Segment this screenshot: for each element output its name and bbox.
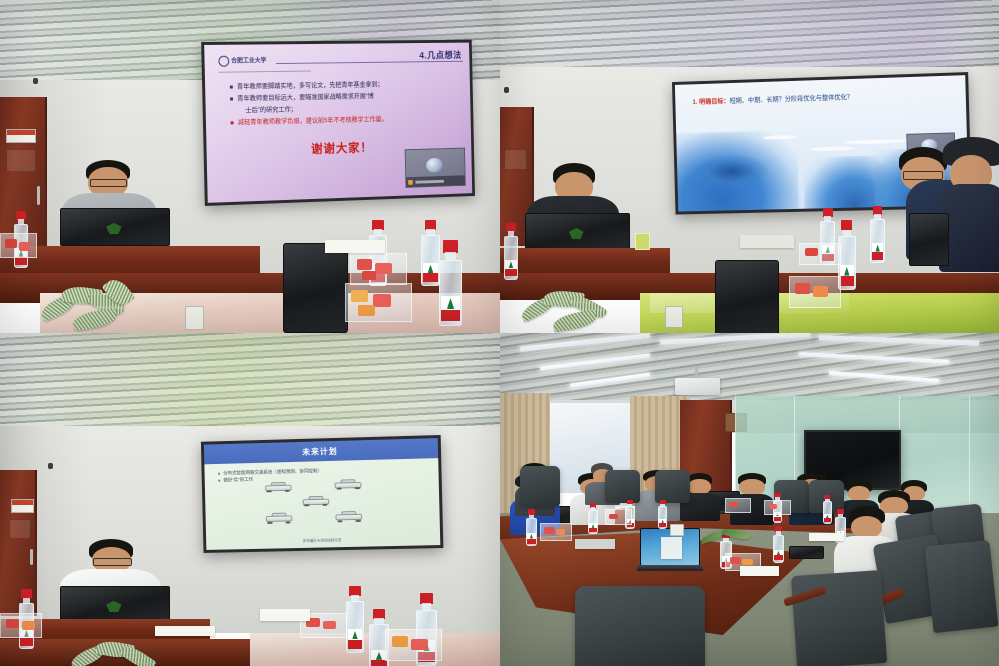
tea-cup xyxy=(635,233,650,250)
potted-plant xyxy=(700,526,760,553)
laptop-lid xyxy=(283,243,348,333)
projector-mount xyxy=(695,366,698,378)
equipment-box xyxy=(740,235,795,248)
projection-screen: 未来计划 分布式智能网联交通系统（感知预测、协同控制） 做好“实”的工作 xyxy=(200,435,442,552)
office-chair[interactable] xyxy=(655,470,690,503)
water-bottle[interactable] xyxy=(587,503,598,535)
photo-collage: 4.几点想法 合肥工业大学 青年教师要脚踏实地，多写论文，先把青年基金拿到； 青… xyxy=(0,0,999,666)
tablet[interactable] xyxy=(789,546,824,559)
bottle-label xyxy=(441,296,459,322)
bottle-label xyxy=(348,629,362,649)
potted-plant xyxy=(40,276,150,333)
pine-tree-icon xyxy=(693,153,768,183)
office-chair[interactable] xyxy=(520,466,560,506)
bottle-label xyxy=(774,550,782,560)
fruit-tray xyxy=(725,498,752,513)
vehicle-icon xyxy=(334,480,361,490)
panel-top-left: 4.几点想法 合肥工业大学 青年教师要脚踏实地，多写论文，先把青年基金拿到； 青… xyxy=(0,0,500,333)
paper-stack xyxy=(809,533,844,541)
ceiling-camera-icon xyxy=(33,78,38,84)
water-bottle[interactable] xyxy=(822,495,833,525)
door-sign xyxy=(6,129,36,144)
plant-leaf xyxy=(552,309,598,332)
water-bottle[interactable] xyxy=(502,223,519,280)
door-handle-icon[interactable] xyxy=(30,549,32,565)
bottle-body xyxy=(526,518,537,546)
bottle-body xyxy=(439,260,462,327)
vehicle-icon xyxy=(335,512,362,522)
paper-stack xyxy=(325,240,385,253)
mountain-logo-icon xyxy=(447,298,454,309)
laptop-lid xyxy=(715,260,780,333)
laptop-base xyxy=(637,565,703,571)
mountain-logo-icon xyxy=(875,245,880,252)
attendee-laptop-foreground[interactable] xyxy=(715,260,780,333)
potted-plant xyxy=(520,283,630,333)
bottle-label xyxy=(659,519,666,527)
bullet-text: 士后”的研究工作； xyxy=(237,105,297,116)
slide-line: 1. 明确目标：短期、中期、长期？分阶段优化与整体优化？ xyxy=(692,88,954,105)
ceiling-camera-icon xyxy=(504,87,509,93)
paper-stack xyxy=(260,609,310,621)
bottle-label xyxy=(824,514,831,522)
panel-bottom-left: 未来计划 分布式智能网联交通系统（感知预测、协同控制） 做好“实”的工作 xyxy=(0,333,500,666)
logo-mark-icon xyxy=(218,55,229,66)
slide-title: 未来计划 xyxy=(203,438,437,464)
power-outlet[interactable] xyxy=(670,524,684,536)
bottle-label xyxy=(840,265,854,286)
vehicle-icon xyxy=(264,483,291,493)
office-chair[interactable] xyxy=(925,540,999,633)
attendee-laptop-foreground[interactable] xyxy=(283,243,348,333)
panel-bottom-right xyxy=(500,333,999,666)
logo-wordmark: 合肥工业大学 xyxy=(231,57,266,63)
bullet-square-icon xyxy=(230,97,233,100)
fruit-tray xyxy=(789,276,841,308)
attendee-head xyxy=(851,516,882,539)
slatted-ceiling xyxy=(500,0,999,73)
mountain-logo-icon xyxy=(844,267,849,276)
power-outlet[interactable] xyxy=(185,306,204,330)
attendee-tablet[interactable] xyxy=(909,213,949,266)
pip-toolbar xyxy=(405,175,464,186)
power-outlet[interactable] xyxy=(665,306,683,328)
bottle-label xyxy=(505,260,516,277)
slide-future-plans: 未来计划 分布式智能网联交通系统（感知预测、协同控制） 做好“实”的工作 xyxy=(203,438,439,549)
ceiling-camera-icon xyxy=(48,463,53,469)
attendee-head xyxy=(739,479,764,495)
bottle-label xyxy=(589,523,596,532)
bullet-square-icon xyxy=(229,85,232,88)
water-bottle[interactable] xyxy=(345,586,365,653)
bottle-label xyxy=(872,243,883,260)
bottle-body xyxy=(346,601,364,652)
water-bottle[interactable] xyxy=(772,526,785,563)
panel-top-right: 1. 明确目标：短期、中期、长期？分阶段优化与整体优化？ xyxy=(500,0,999,333)
office-chair[interactable] xyxy=(575,586,705,666)
water-bottle[interactable] xyxy=(657,500,668,530)
slide-line-rest: 短期、中期、长期？分阶段优化与整体优化？ xyxy=(729,93,853,104)
bullet-square-icon xyxy=(230,121,233,124)
plant-leaf xyxy=(72,308,118,331)
plant-leaf xyxy=(722,527,751,542)
slatted-ceiling xyxy=(0,333,500,433)
slide-header: 4.几点想法 xyxy=(419,48,462,61)
fruit-tray xyxy=(605,509,632,524)
fruit-tray xyxy=(799,243,841,265)
mountain-logo-icon xyxy=(509,261,514,268)
slide-logo-rule xyxy=(218,70,310,72)
glasses-icon xyxy=(903,171,942,180)
bottle-body xyxy=(504,236,519,280)
attendee-head xyxy=(688,479,710,494)
bullet-text: 青年教师要目标远大，要瞄准国家战略需求开展“博 xyxy=(237,91,374,103)
tablet-screen xyxy=(909,213,949,266)
laptop-dialog xyxy=(661,537,681,559)
bottle-body xyxy=(658,506,668,529)
mountain-logo-icon xyxy=(428,265,434,273)
bottle-body xyxy=(823,501,833,524)
ceiling-projector xyxy=(675,378,720,395)
fruit-tray xyxy=(764,500,791,515)
slide-header-rule xyxy=(275,60,462,63)
attendee-head xyxy=(848,486,870,501)
slide-closing-thoughts: 4.几点想法 合肥工业大学 青年教师要脚踏实地，多写论文，先把青年基金拿到； 青… xyxy=(204,42,472,202)
potted-plant xyxy=(70,636,170,666)
mountain-logo-icon xyxy=(376,652,382,660)
fruit-tray xyxy=(345,283,412,322)
office-chair[interactable] xyxy=(791,570,887,666)
bottle-body xyxy=(588,510,598,534)
fruit-tray xyxy=(0,233,37,258)
water-bottle[interactable] xyxy=(525,509,538,546)
bullet-square-icon xyxy=(218,472,220,474)
slide-line-highlight: 1. 明确目标： xyxy=(692,97,729,105)
fruit-tray xyxy=(350,253,407,285)
slide-video-pip xyxy=(404,148,465,188)
bullet-text: 青年教师要脚踏实地，多写论文，先把青年基金拿到； xyxy=(236,80,383,92)
bottle-label xyxy=(527,533,535,543)
university-logo-icon: 合肥工业大学 xyxy=(218,55,266,66)
door-window-panel xyxy=(9,519,31,539)
tablet-screen xyxy=(789,546,824,559)
bullet-text: 分布式智能网联交通系统（感知预测、协同控制） xyxy=(223,467,322,475)
pip-globe-icon xyxy=(425,157,442,172)
office-chair[interactable] xyxy=(605,470,640,503)
water-bottle[interactable] xyxy=(869,206,886,263)
bottle-body xyxy=(773,535,784,563)
paper-stack xyxy=(155,626,215,636)
projection-screen: 4.几点想法 合肥工业大学 青年教师要脚踏实地，多写论文，先把青年基金拿到； 青… xyxy=(201,39,475,205)
paper-stack xyxy=(740,566,780,576)
bottle-label xyxy=(423,263,438,283)
vehicle-formation-figure xyxy=(204,476,439,539)
glasses-icon xyxy=(90,179,127,187)
water-bottle[interactable] xyxy=(438,240,464,327)
slide-bullet-list: 青年教师要脚踏实地，多写论文，先把青年基金拿到； 青年教师要目标远大，要瞄准国家… xyxy=(229,79,457,130)
door-sign xyxy=(11,499,34,513)
ceiling-light-glow xyxy=(500,0,999,73)
ceiling-light-glow xyxy=(0,333,500,433)
fruit-tray xyxy=(0,613,42,638)
mountain-logo-icon xyxy=(352,631,358,639)
fruit-tray xyxy=(385,629,442,661)
door-handle-icon[interactable] xyxy=(37,186,41,205)
bottle-body xyxy=(870,219,885,263)
door-window-panel xyxy=(6,149,36,172)
presenter-laptop[interactable] xyxy=(60,208,170,251)
vehicle-icon xyxy=(265,514,292,524)
fruit-tray xyxy=(540,523,572,542)
door-window-panel xyxy=(504,149,527,171)
bullet-text: 减轻青年教师教学负担，建议前5年不考核教学工作量。 xyxy=(237,114,387,127)
bottle-cap xyxy=(443,240,458,253)
vehicle-icon xyxy=(302,497,329,507)
paper-stack xyxy=(575,539,615,549)
glasses-icon xyxy=(93,558,133,566)
